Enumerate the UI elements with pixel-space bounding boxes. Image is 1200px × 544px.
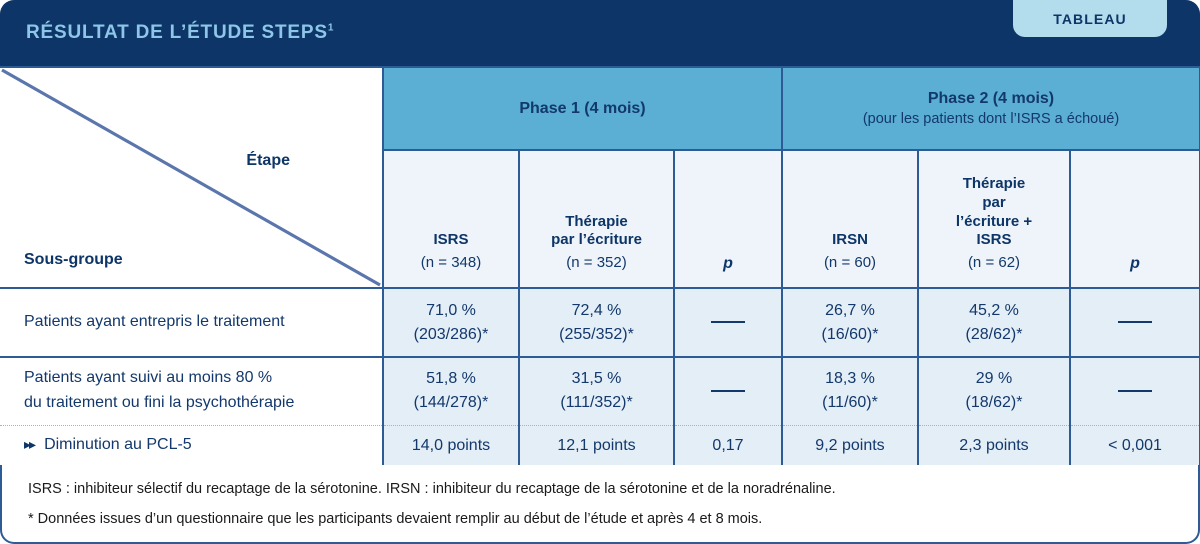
column-axis-label: Étape <box>246 152 290 170</box>
table-figure: RÉSULTAT DE L’ÉTUDE STEPS1 TABLEAU <box>0 0 1200 544</box>
column-header-irsn-name: IRSN <box>787 231 913 250</box>
row-label: Patients ayant suivi au moins 80 % du tr… <box>0 357 383 425</box>
no-data-dash-icon <box>1118 390 1152 392</box>
cell-value: 72,4 % (255/352)* <box>519 288 674 357</box>
column-header-p-phase2-name: p <box>1075 255 1195 273</box>
row-label-text: Patients ayant suivi au moins 80 % du tr… <box>24 369 294 411</box>
page-title-superscript: 1 <box>328 23 334 34</box>
cell-value: 18,3 % (11/60)* <box>782 357 918 425</box>
row-label-text: Diminution au PCL-5 <box>44 436 192 453</box>
page-title: RÉSULTAT DE L’ÉTUDE STEPS1 <box>26 22 334 44</box>
group-header-phase-2-line2: (pour les patients dont l’ISRS a échoué) <box>791 110 1191 130</box>
column-header-isrs: ISRS (n = 348) <box>383 150 519 288</box>
no-data-dash-icon <box>711 390 745 392</box>
row-label: Patients ayant entrepris le traitement <box>0 288 383 357</box>
row-label: ▸▸Diminution au PCL-5 <box>0 425 383 467</box>
column-header-therapie-ecriture: Thérapie par l’écriture (n = 352) <box>519 150 674 288</box>
column-header-p-phase2: p <box>1070 150 1200 288</box>
table-row: ▸▸Diminution au PCL-5 14,0 points 12,1 p… <box>0 425 1200 467</box>
row-label-text: Patients ayant entrepris le traitement <box>24 313 285 330</box>
group-header-phase-1-line1: Phase 1 (4 mois) <box>392 98 773 120</box>
cell-value <box>1070 288 1200 357</box>
cell-value: 9,2 points <box>782 425 918 467</box>
cell-value: 45,2 % (28/62)* <box>918 288 1070 357</box>
footnotes: ISRS : inhibiteur sélectif du recaptage … <box>0 465 1200 544</box>
column-header-therapie-ecriture-n: (n = 352) <box>524 252 669 273</box>
column-header-isrs-name: ISRS <box>388 231 514 250</box>
column-header-irsn: IRSN (n = 60) <box>782 150 918 288</box>
table-row: Patients ayant entrepris le traitement 7… <box>0 288 1200 357</box>
cell-value: 51,8 % (144/278)* <box>383 357 519 425</box>
title-bar: RÉSULTAT DE L’ÉTUDE STEPS1 TABLEAU <box>0 0 1200 66</box>
status-badge: TABLEAU <box>1013 0 1167 37</box>
footnote-abbreviations: ISRS : inhibiteur sélectif du recaptage … <box>28 479 1172 501</box>
results-table-container: Étape Sous-groupe Phase 1 (4 mois) Phase… <box>0 66 1200 467</box>
cell-value <box>1070 357 1200 425</box>
cell-value <box>674 357 782 425</box>
column-header-isrs-n: (n = 348) <box>388 252 514 273</box>
column-header-irsn-n: (n = 60) <box>787 252 913 273</box>
cell-value: 2,3 points <box>918 425 1070 467</box>
no-data-dash-icon <box>1118 321 1152 323</box>
cell-value: 12,1 points <box>519 425 674 467</box>
column-header-p-phase1-name: p <box>679 255 777 273</box>
cell-value <box>674 288 782 357</box>
no-data-dash-icon <box>711 321 745 323</box>
column-header-therapie-plus-isrs: Thérapie par l’écriture + ISRS (n = 62) <box>918 150 1070 288</box>
cell-value: < 0,001 <box>1070 425 1200 467</box>
group-header-row: Étape Sous-groupe Phase 1 (4 mois) Phase… <box>0 67 1200 150</box>
cell-value: 26,7 % (16/60)* <box>782 288 918 357</box>
group-header-phase-1: Phase 1 (4 mois) <box>383 67 782 150</box>
cell-value: 71,0 % (203/286)* <box>383 288 519 357</box>
cell-value: 31,5 % (111/352)* <box>519 357 674 425</box>
cell-value: 29 % (18/62)* <box>918 357 1070 425</box>
cell-value: 14,0 points <box>383 425 519 467</box>
corner-cell: Étape Sous-groupe <box>0 67 383 288</box>
table-row: Patients ayant suivi au moins 80 % du tr… <box>0 357 1200 425</box>
row-axis-label: Sous-groupe <box>24 251 123 269</box>
double-chevron-right-icon: ▸▸ <box>24 434 34 456</box>
column-header-therapie-ecriture-name: Thérapie par l’écriture <box>524 213 669 251</box>
cell-value: 0,17 <box>674 425 782 467</box>
page-title-text: RÉSULTAT DE L’ÉTUDE STEPS <box>26 22 328 43</box>
column-header-p-phase1: p <box>674 150 782 288</box>
results-table: Étape Sous-groupe Phase 1 (4 mois) Phase… <box>0 66 1200 468</box>
footnote-asterisk: * Données issues d’un questionnaire que … <box>28 509 1172 531</box>
group-header-phase-2-line1: Phase 2 (4 mois) <box>791 88 1191 110</box>
group-header-phase-2: Phase 2 (4 mois) (pour les patients dont… <box>782 67 1200 150</box>
column-header-therapie-plus-isrs-name: Thérapie par l’écriture + ISRS <box>923 175 1065 250</box>
column-header-therapie-plus-isrs-n: (n = 62) <box>923 252 1065 273</box>
